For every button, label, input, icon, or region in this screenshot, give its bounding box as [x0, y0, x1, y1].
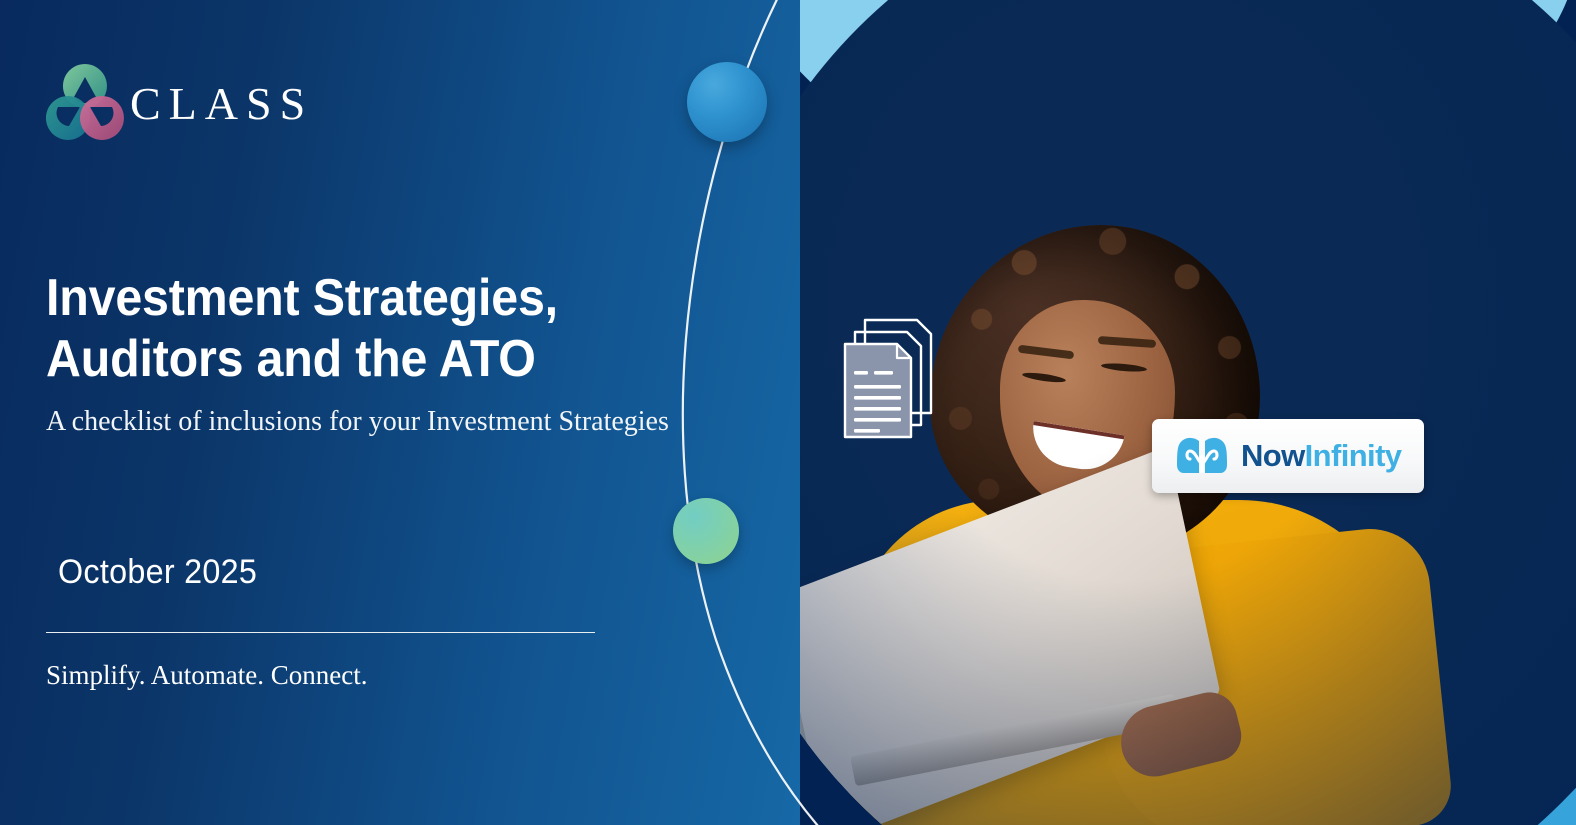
- page-title: Investment Strategies,Auditors and the A…: [46, 268, 604, 390]
- class-trefoil-logo-icon: [46, 62, 124, 146]
- tagline: Simplify. Automate. Connect.: [46, 658, 367, 692]
- nowinfinity-infinity-text: Infinity: [1305, 438, 1402, 473]
- class-logo[interactable]: CLASS: [46, 62, 313, 146]
- two-heads-infinity-icon: [1174, 435, 1230, 477]
- blue-sphere: [687, 62, 767, 142]
- page-subtitle: A checklist of inclusions for your Inves…: [46, 404, 671, 439]
- hero-photo: [700, 0, 1576, 825]
- hero-photo-image: [700, 0, 1576, 825]
- title-slide: NowInfinity CLASS: [0, 0, 1576, 825]
- divider: [46, 632, 595, 633]
- nowinfinity-now-text: Now: [1241, 438, 1305, 473]
- date-label: October 2025: [58, 553, 257, 592]
- nowinfinity-badge: NowInfinity: [1152, 419, 1424, 493]
- stacked-documents-icon: [843, 313, 947, 439]
- class-wordmark: CLASS: [130, 81, 313, 127]
- headline-line-2: Auditors and the ATO: [46, 330, 536, 388]
- nowinfinity-wordmark: NowInfinity: [1241, 438, 1401, 474]
- green-sphere: [673, 498, 739, 564]
- headline-line-1: Investment Strategies,: [46, 269, 558, 327]
